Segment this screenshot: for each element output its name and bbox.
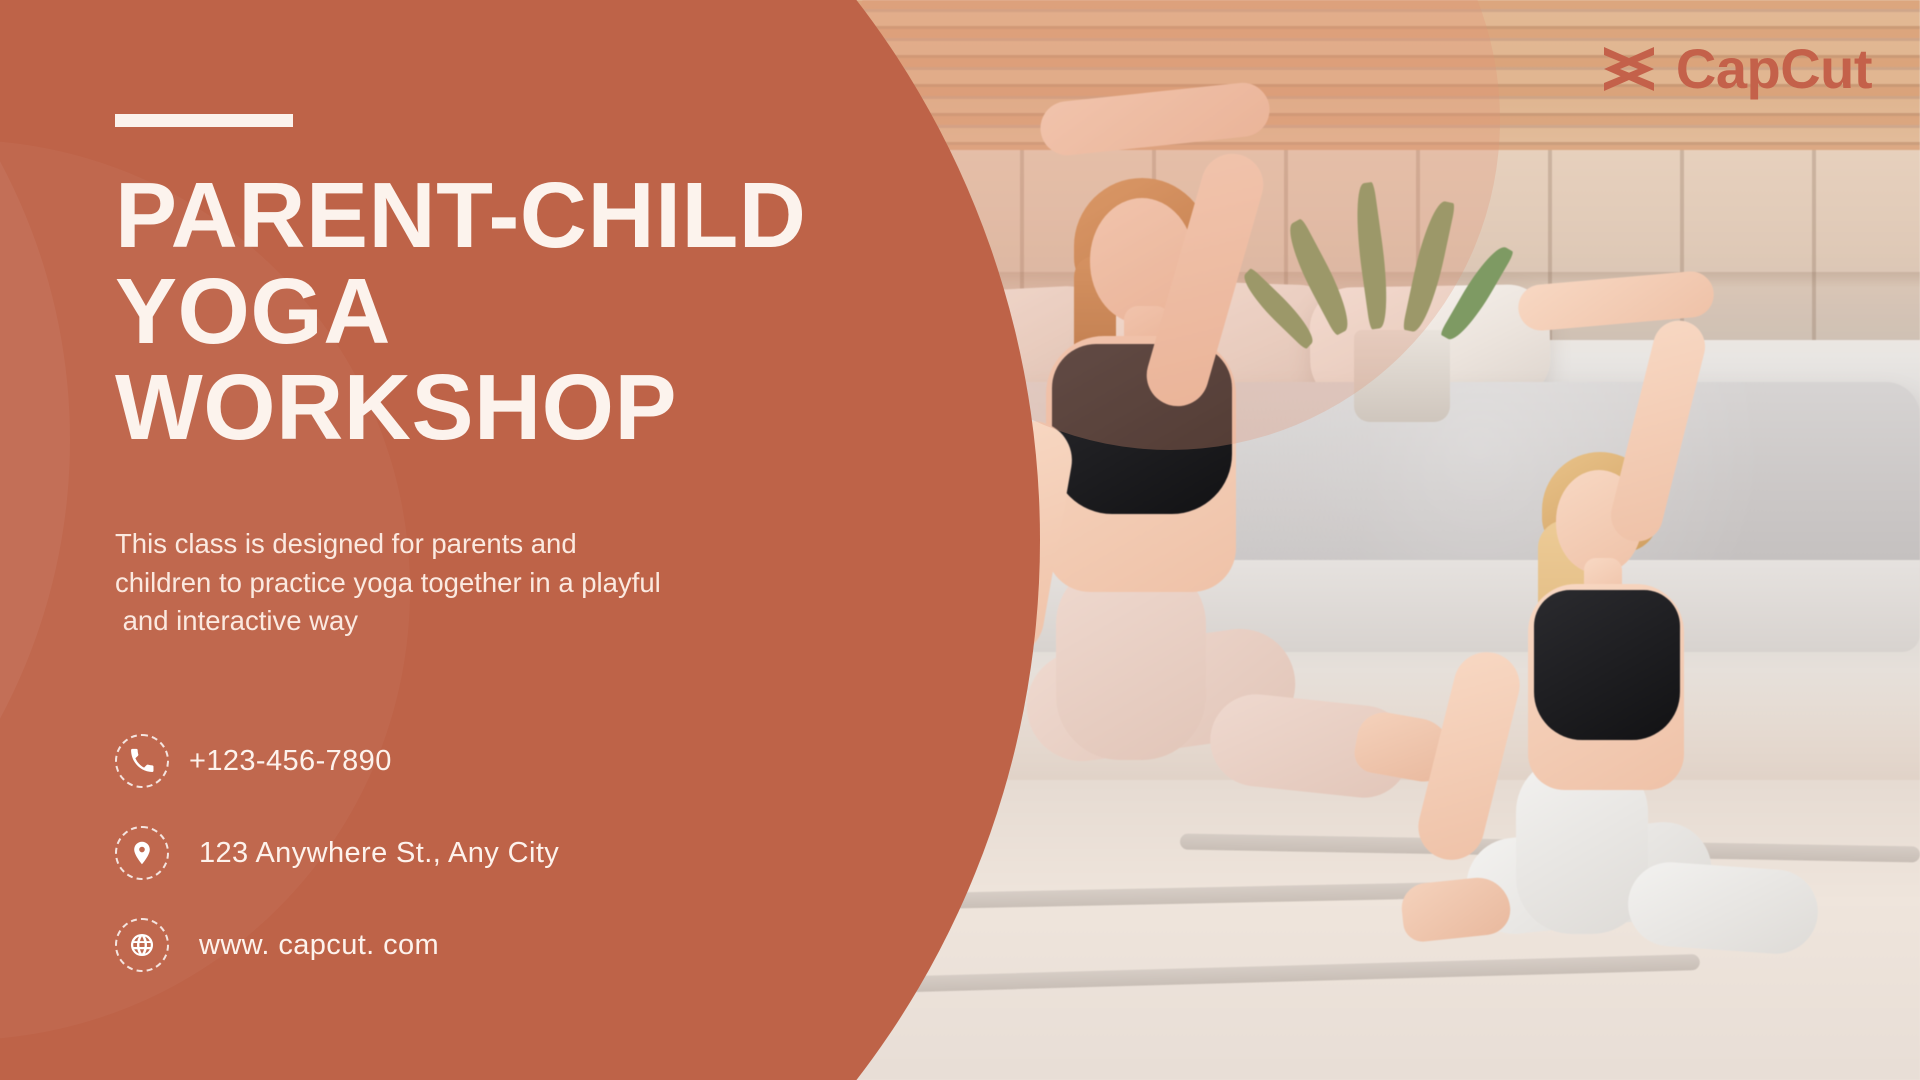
contact-row-website[interactable]: www. capcut. com xyxy=(115,914,735,976)
website-url: www. capcut. com xyxy=(189,929,439,962)
title-line-3: WORKSHOP xyxy=(115,360,875,456)
capcut-logo[interactable]: CapCut xyxy=(1598,36,1872,101)
contact-row-address[interactable]: 123 Anywhere St., Any City xyxy=(115,822,735,884)
description-line-1: This class is designed for parents and xyxy=(115,525,705,564)
description-line-2: children to practice yoga together in a … xyxy=(115,564,705,603)
poster-canvas: PARENT-CHILD YOGA WORKSHOP This class is… xyxy=(0,0,1920,1080)
poster-content: PARENT-CHILD YOGA WORKSHOP This class is… xyxy=(115,0,835,1080)
capcut-bowtie-icon xyxy=(1598,41,1660,97)
phone-number: +123-456-7890 xyxy=(189,745,392,778)
title-line-2: YOGA xyxy=(115,264,875,360)
location-pin-icon xyxy=(115,826,169,880)
contact-list: +123-456-7890 123 Anywhere St., Any City… xyxy=(115,730,735,1006)
globe-icon xyxy=(115,918,169,972)
street-address: 123 Anywhere St., Any City xyxy=(189,837,559,870)
daughter-shin xyxy=(1625,859,1820,956)
contact-row-phone[interactable]: +123-456-7890 xyxy=(115,730,735,792)
capcut-wordmark: CapCut xyxy=(1676,36,1872,101)
page-title: PARENT-CHILD YOGA WORKSHOP xyxy=(115,168,875,455)
phone-icon xyxy=(115,734,169,788)
description-line-3: and interactive way xyxy=(115,602,705,641)
title-divider-rule xyxy=(115,114,293,127)
daughter-crop-top xyxy=(1534,590,1680,740)
title-line-1: PARENT-CHILD xyxy=(115,168,875,264)
description-text: This class is designed for parents and c… xyxy=(115,525,705,641)
